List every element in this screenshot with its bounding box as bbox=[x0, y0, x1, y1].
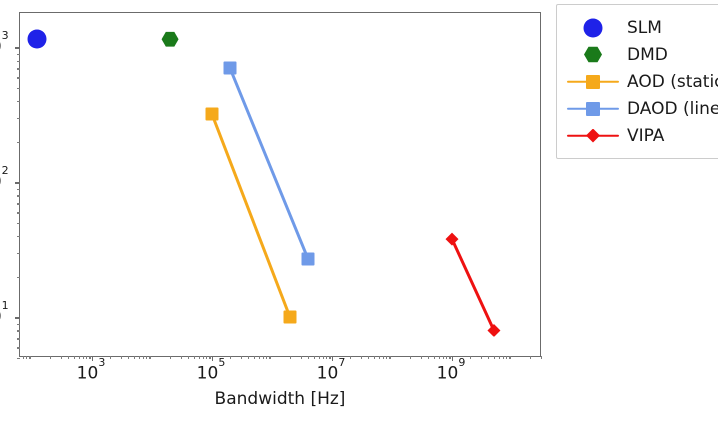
series-line bbox=[230, 68, 308, 259]
legend-item-aod-static[interactable]: AOD (static bbox=[557, 68, 718, 95]
y-axis-tick-label: 103 bbox=[0, 36, 6, 58]
legend-marker-swatch bbox=[584, 46, 602, 64]
legend-key bbox=[567, 17, 619, 39]
legend-label: AOD (static bbox=[627, 72, 718, 92]
data-point-marker bbox=[206, 108, 219, 121]
plot-axes bbox=[19, 12, 541, 357]
series-line bbox=[212, 114, 290, 317]
legend-marker-swatch bbox=[586, 75, 600, 89]
legend-key bbox=[567, 125, 619, 147]
legend-item-vipa[interactable]: VIPA bbox=[557, 122, 718, 149]
data-point-marker bbox=[302, 253, 315, 266]
legend-marker-swatch bbox=[586, 129, 600, 143]
legend-marker-swatch bbox=[584, 18, 603, 37]
x-axis-tick-label: 105 bbox=[197, 362, 226, 384]
x-axis-label: Bandwidth [Hz] bbox=[19, 389, 541, 409]
x-axis-tick-label: 103 bbox=[77, 362, 106, 384]
legend-label: DAOD (linea bbox=[627, 99, 718, 119]
legend-item-dmd[interactable]: DMD bbox=[557, 41, 718, 68]
y-axis-minor-tick bbox=[17, 358, 20, 359]
x-axis-tick-label: 109 bbox=[437, 362, 466, 384]
x-axis-tick-label: 107 bbox=[317, 362, 346, 384]
data-point-marker bbox=[27, 30, 46, 49]
data-point-marker bbox=[224, 62, 237, 75]
legend-key bbox=[567, 98, 619, 120]
y-axis-tick-label: 102 bbox=[0, 171, 6, 193]
chart-legend: SLMDMDAOD (staticDAOD (lineaVIPA bbox=[556, 4, 718, 159]
legend-item-daod-linear[interactable]: DAOD (linea bbox=[557, 95, 718, 122]
chart-figure: 103105107109103102101 Bandwidth [Hz] SLM… bbox=[0, 0, 718, 425]
series-lines bbox=[20, 13, 542, 358]
legend-label: DMD bbox=[627, 45, 668, 65]
y-axis-tick-label: 101 bbox=[0, 306, 6, 328]
legend-key bbox=[567, 71, 619, 93]
legend-key bbox=[567, 44, 619, 66]
data-point-marker bbox=[284, 311, 297, 324]
plot-area bbox=[20, 13, 540, 356]
legend-label: SLM bbox=[627, 18, 662, 38]
legend-item-slm[interactable]: SLM bbox=[557, 14, 718, 41]
legend-label: VIPA bbox=[627, 126, 664, 146]
legend-marker-swatch bbox=[586, 102, 600, 116]
series-line bbox=[452, 239, 494, 330]
